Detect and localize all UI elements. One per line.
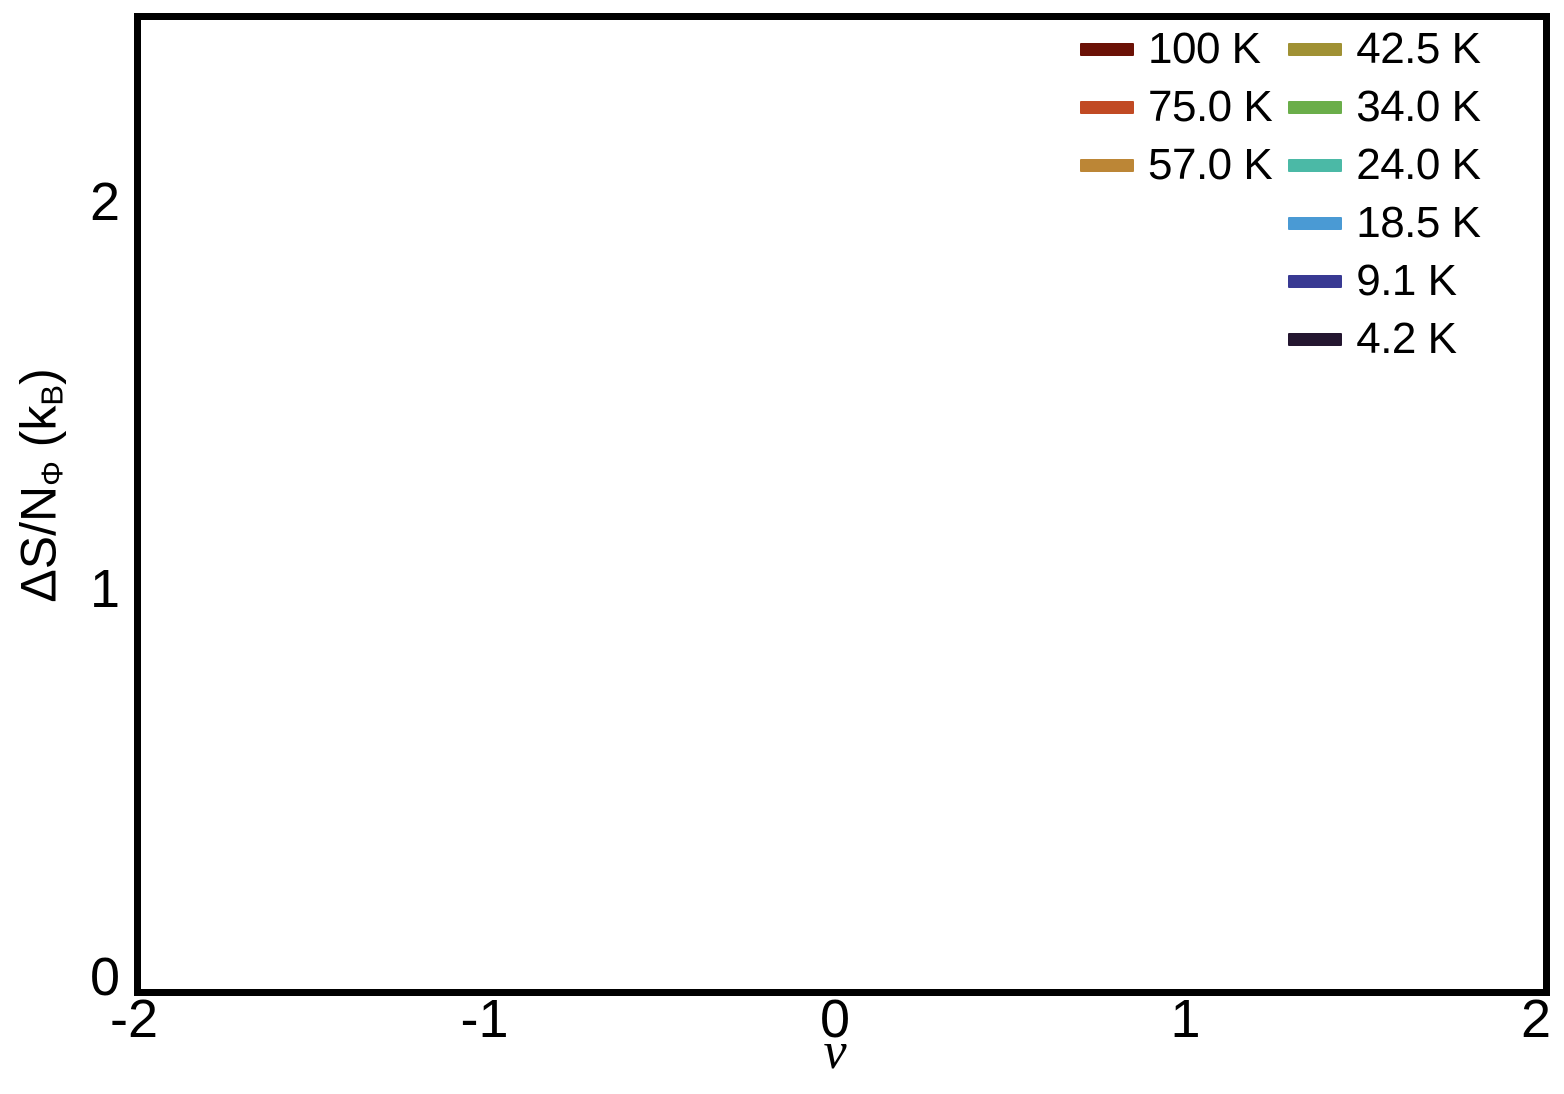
legend-swatch-icon <box>1080 159 1134 172</box>
legend-swatch-icon <box>1080 101 1134 114</box>
legend-swatch-icon <box>1288 333 1342 346</box>
chart-root: 012 -2-1012 ΔS/NΦ (kB) ν 100 K75.0 K57.0… <box>0 0 1564 1094</box>
legend-label: 34.0 K <box>1356 82 1480 132</box>
legend-entry[interactable]: 100 K <box>1080 20 1272 78</box>
legend-swatch-icon <box>1288 43 1342 56</box>
x-tick-label: 2 <box>1476 992 1564 1046</box>
legend-entry[interactable]: 34.0 K <box>1288 78 1480 136</box>
legend-entry[interactable]: 42.5 K <box>1288 20 1480 78</box>
y-axis-title-main: ΔS/N <box>11 486 67 603</box>
legend-swatch-icon <box>1288 159 1342 172</box>
x-axis-title: ν <box>735 1022 935 1081</box>
legend-label: 57.0 K <box>1148 140 1272 190</box>
legend-label: 100 K <box>1148 24 1260 74</box>
x-tick-label: 1 <box>1126 992 1246 1046</box>
legend-swatch-icon <box>1288 101 1342 114</box>
legend-label: 42.5 K <box>1356 24 1480 74</box>
legend-label: 18.5 K <box>1356 198 1480 248</box>
legend-entry[interactable]: 18.5 K <box>1288 194 1480 252</box>
y-axis-title-sub-b: B <box>34 385 69 406</box>
legend-swatch-icon <box>1288 275 1342 288</box>
y-axis-title-tail: (k <box>11 406 67 462</box>
legend-label: 9.1 K <box>1356 256 1456 306</box>
y-axis-title: ΔS/NΦ (kB) <box>10 225 71 745</box>
legend-entry[interactable]: 4.2 K <box>1288 310 1480 368</box>
legend: 100 K75.0 K57.0 K42.5 K34.0 K24.0 K18.5 … <box>1080 20 1480 368</box>
legend-entry[interactable]: 9.1 K <box>1288 252 1480 310</box>
legend-entry[interactable]: 75.0 K <box>1080 78 1272 136</box>
y-axis-title-sub-phi: Φ <box>34 461 69 486</box>
legend-column: 42.5 K34.0 K24.0 K18.5 K9.1 K4.2 K <box>1288 20 1480 368</box>
legend-column: 100 K75.0 K57.0 K <box>1080 20 1272 368</box>
legend-label: 24.0 K <box>1356 140 1480 190</box>
legend-label: 4.2 K <box>1356 314 1456 364</box>
legend-label: 75.0 K <box>1148 82 1272 132</box>
legend-swatch-icon <box>1288 217 1342 230</box>
x-tick-label: -1 <box>425 992 545 1046</box>
legend-entry[interactable]: 24.0 K <box>1288 136 1480 194</box>
x-tick-label: -2 <box>74 992 194 1046</box>
legend-entry[interactable]: 57.0 K <box>1080 136 1272 194</box>
legend-swatch-icon <box>1080 43 1134 56</box>
y-axis-title-end: ) <box>11 368 67 385</box>
